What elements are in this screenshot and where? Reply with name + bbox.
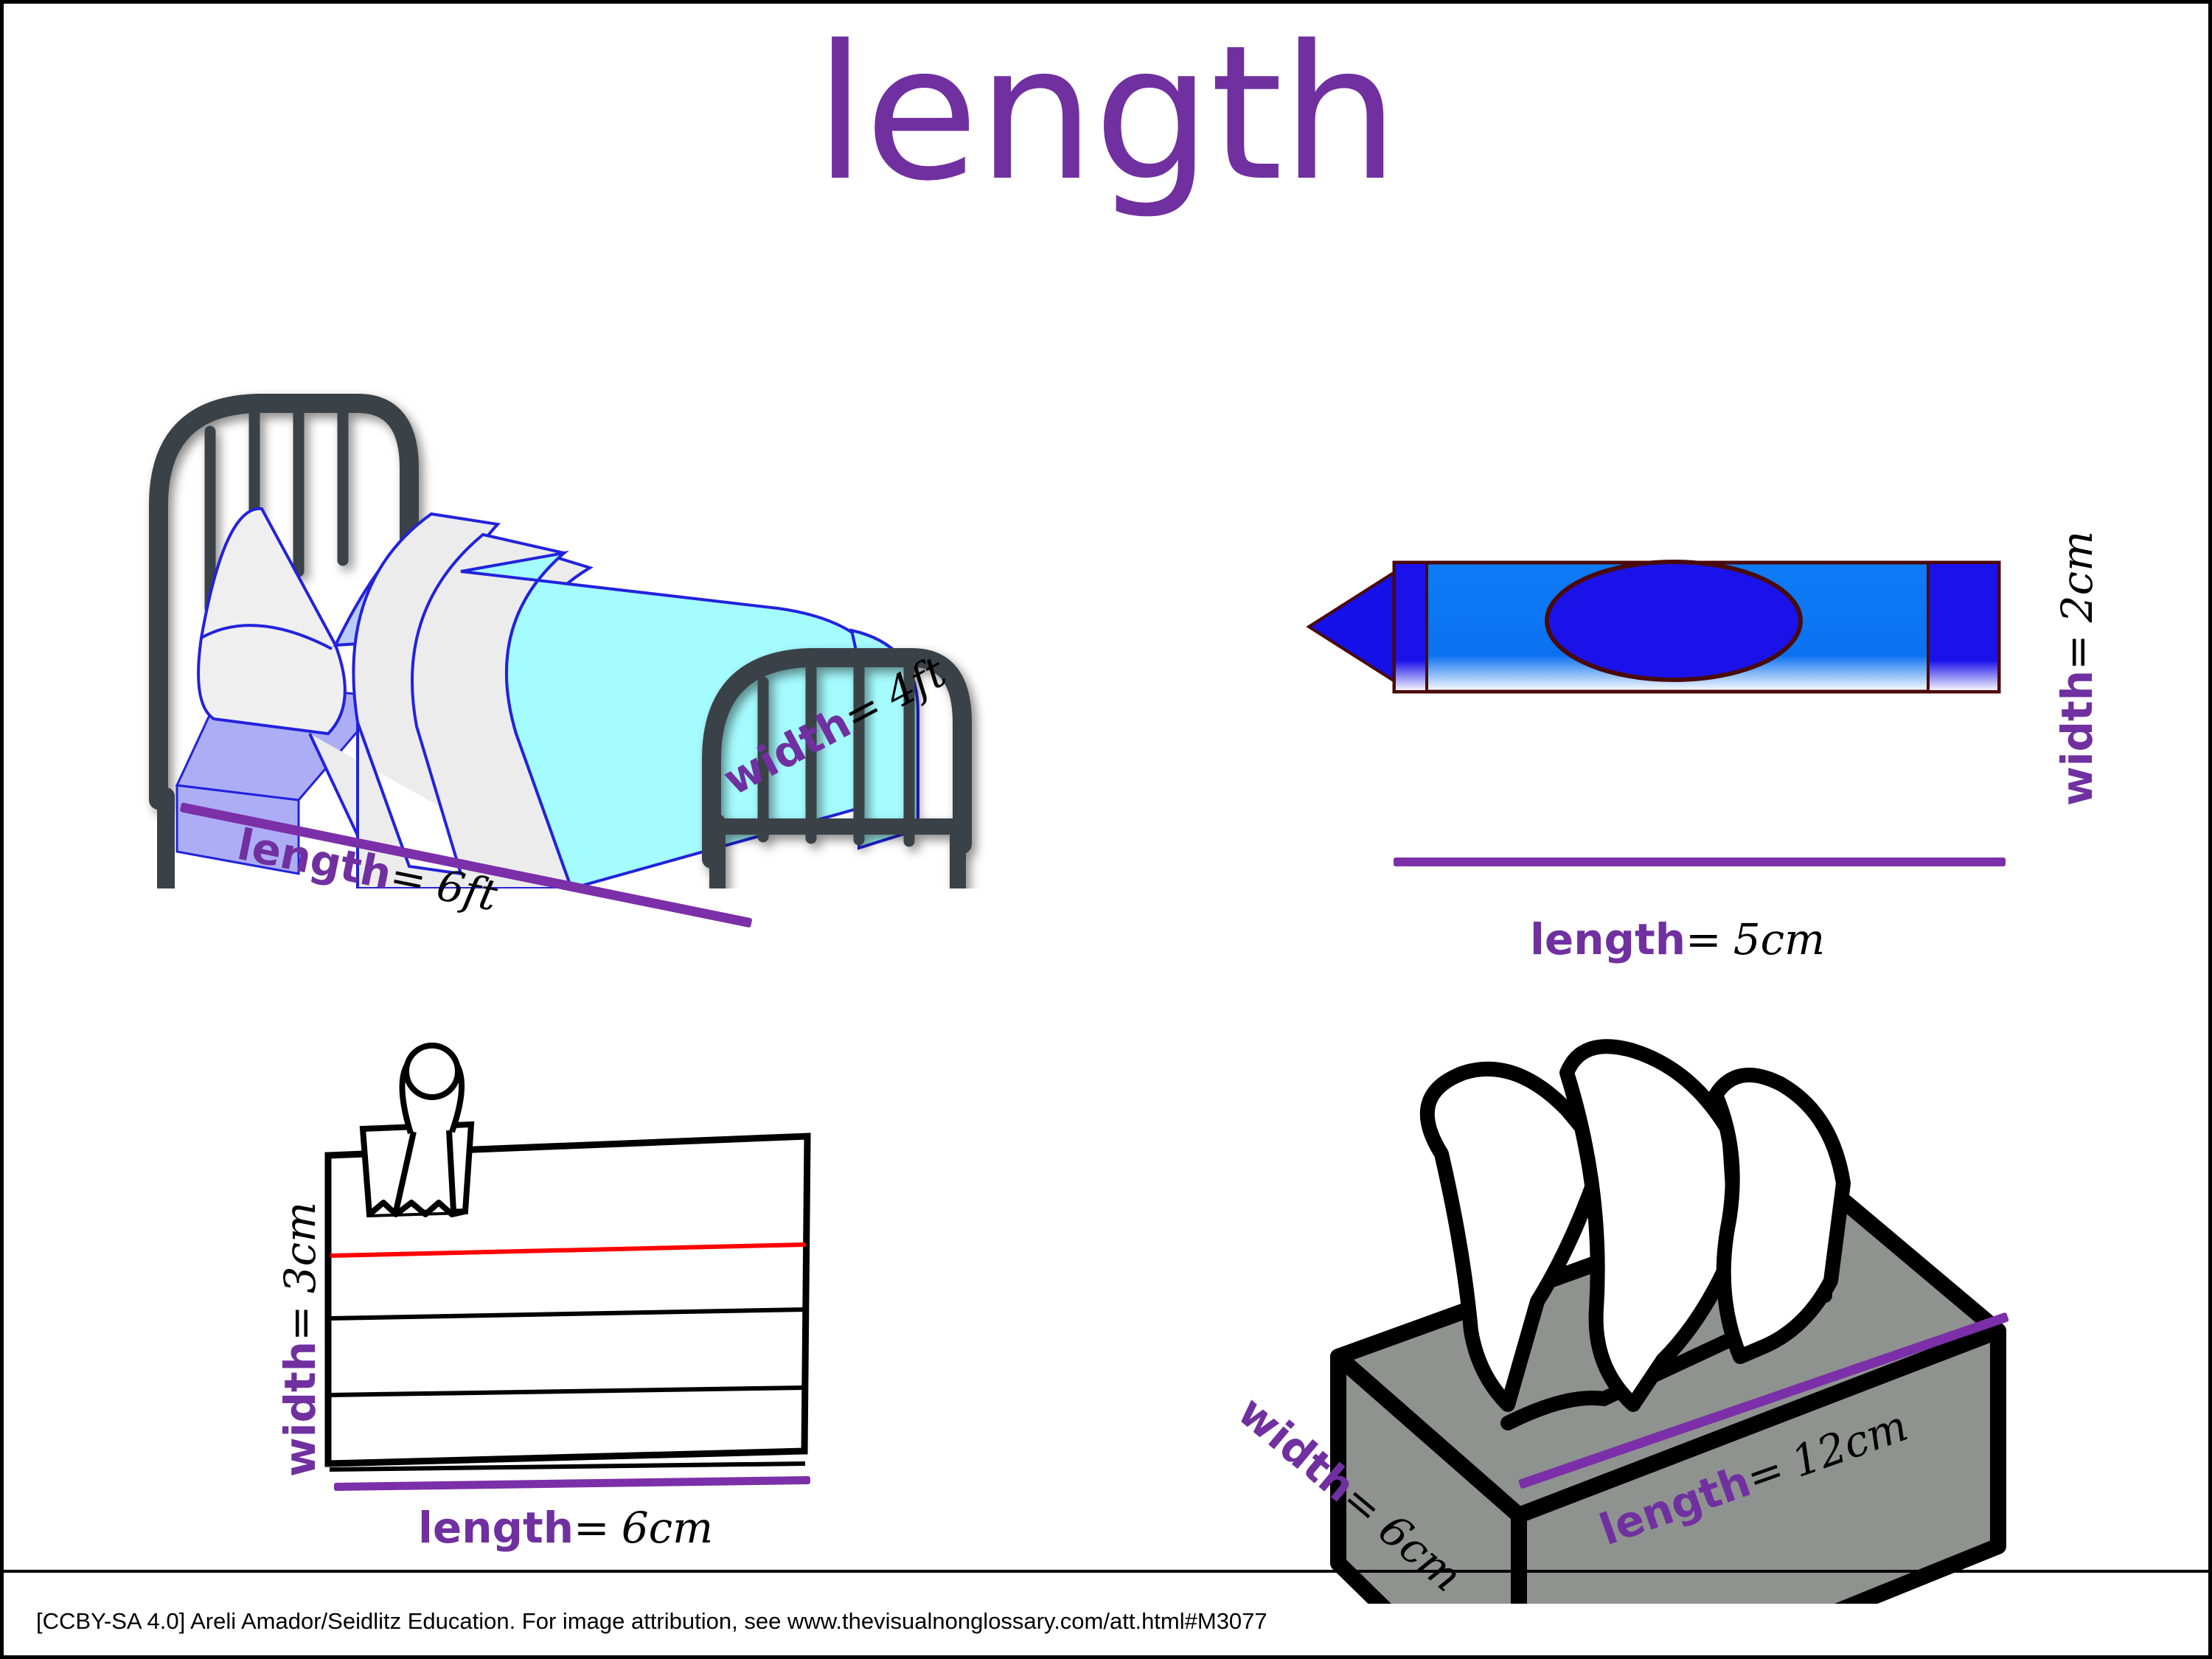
- bed-icon: [114, 387, 999, 888]
- notepad-width-key: width: [275, 1341, 325, 1477]
- crayon-illustration: [1301, 476, 2157, 822]
- crayon-width-eq: =: [2052, 634, 2102, 670]
- crayon-width-key: width: [2052, 670, 2102, 806]
- notepad-length-value: 6cm: [622, 1503, 713, 1553]
- page-title: length: [4, 17, 2208, 212]
- crayon-length-eq: =: [1686, 914, 1722, 964]
- notepad-width-label: width= 3cm: [275, 1202, 325, 1477]
- bed-illustration: [114, 387, 999, 888]
- notepad-illustration: [225, 1021, 903, 1552]
- notepad-length-eq: =: [574, 1503, 610, 1553]
- glossary-page: length: [0, 0, 2212, 1659]
- notepad-width-eq: =: [275, 1305, 325, 1341]
- crayon-length-key: length: [1530, 914, 1686, 964]
- crayon-width-label: width= 2cm: [2052, 531, 2102, 806]
- crayon-length-label: length= 5cm: [1530, 914, 1825, 964]
- attribution-text: [CCBY-SA 4.0] Areli Amador/Seidlitz Educ…: [36, 1608, 1267, 1635]
- crayon-band-right: [1928, 563, 1999, 692]
- binder-clip-icon: [363, 1046, 471, 1214]
- crayon-tip: [1309, 571, 1396, 682]
- crayon-icon: [1301, 476, 2157, 822]
- crayon-band-left: [1394, 563, 1427, 692]
- footer-divider: [4, 1570, 2208, 1573]
- notepad-length-key: length: [418, 1503, 574, 1553]
- notepad-width-value: 3cm: [275, 1202, 325, 1293]
- notepad-icon: [225, 1021, 903, 1552]
- crayon-length-measure-line: [1394, 858, 2006, 866]
- crayon-length-value: 5cm: [1733, 914, 1825, 964]
- crayon-width-value: 2cm: [2052, 531, 2102, 622]
- bed-pillow: [198, 509, 345, 734]
- crayon-oval-label: [1547, 562, 1801, 680]
- notepad-length-label: length= 6cm: [418, 1503, 713, 1553]
